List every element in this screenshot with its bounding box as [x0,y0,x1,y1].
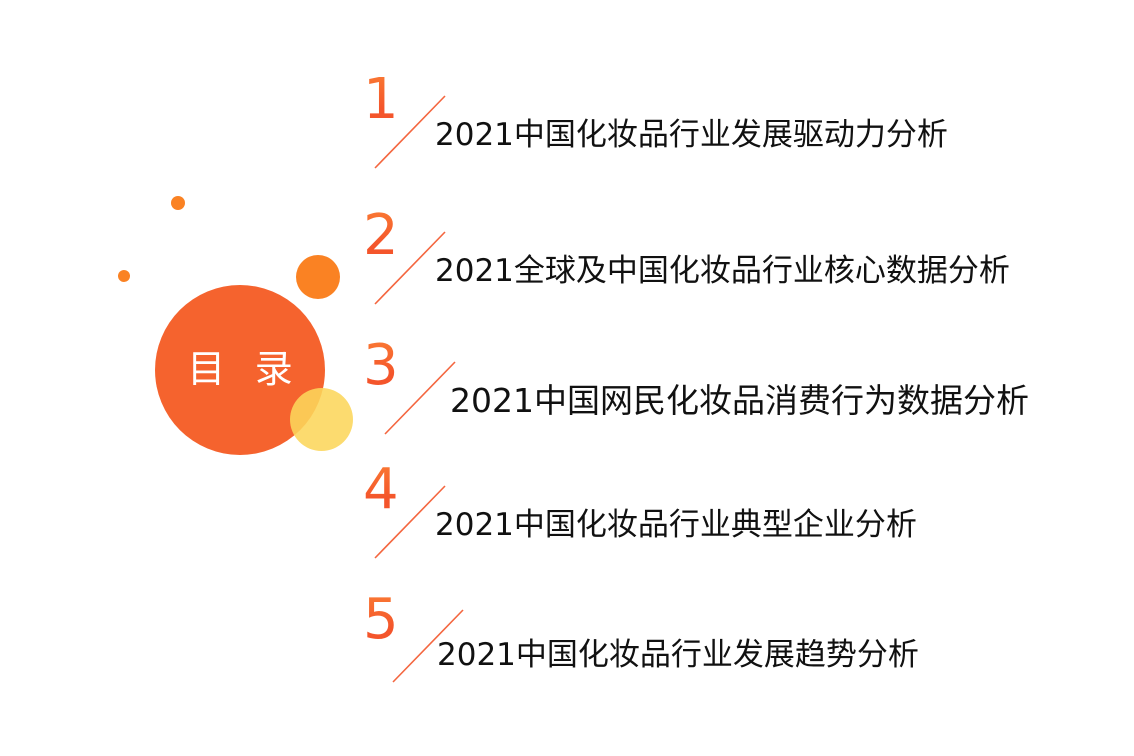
agenda-label-3: 2021中国网民化妆品消费行为数据分析 [450,382,1029,420]
toc-slide: 目 录 1 2021中国化妆品行业发展驱动力分析 2 2021全球及中国化妆品行… [0,0,1134,756]
agenda-label-1: 2021中国化妆品行业发展驱动力分析 [435,118,948,154]
agenda-label-2: 2021全球及中国化妆品行业核心数据分析 [435,254,1010,290]
agenda-label-5: 2021中国化妆品行业发展趋势分析 [437,638,919,674]
agenda-list: 1 2021中国化妆品行业发展驱动力分析 2 2021全球及中国化妆品行业核心数… [0,0,1134,756]
agenda-label-4: 2021中国化妆品行业典型企业分析 [435,508,917,544]
